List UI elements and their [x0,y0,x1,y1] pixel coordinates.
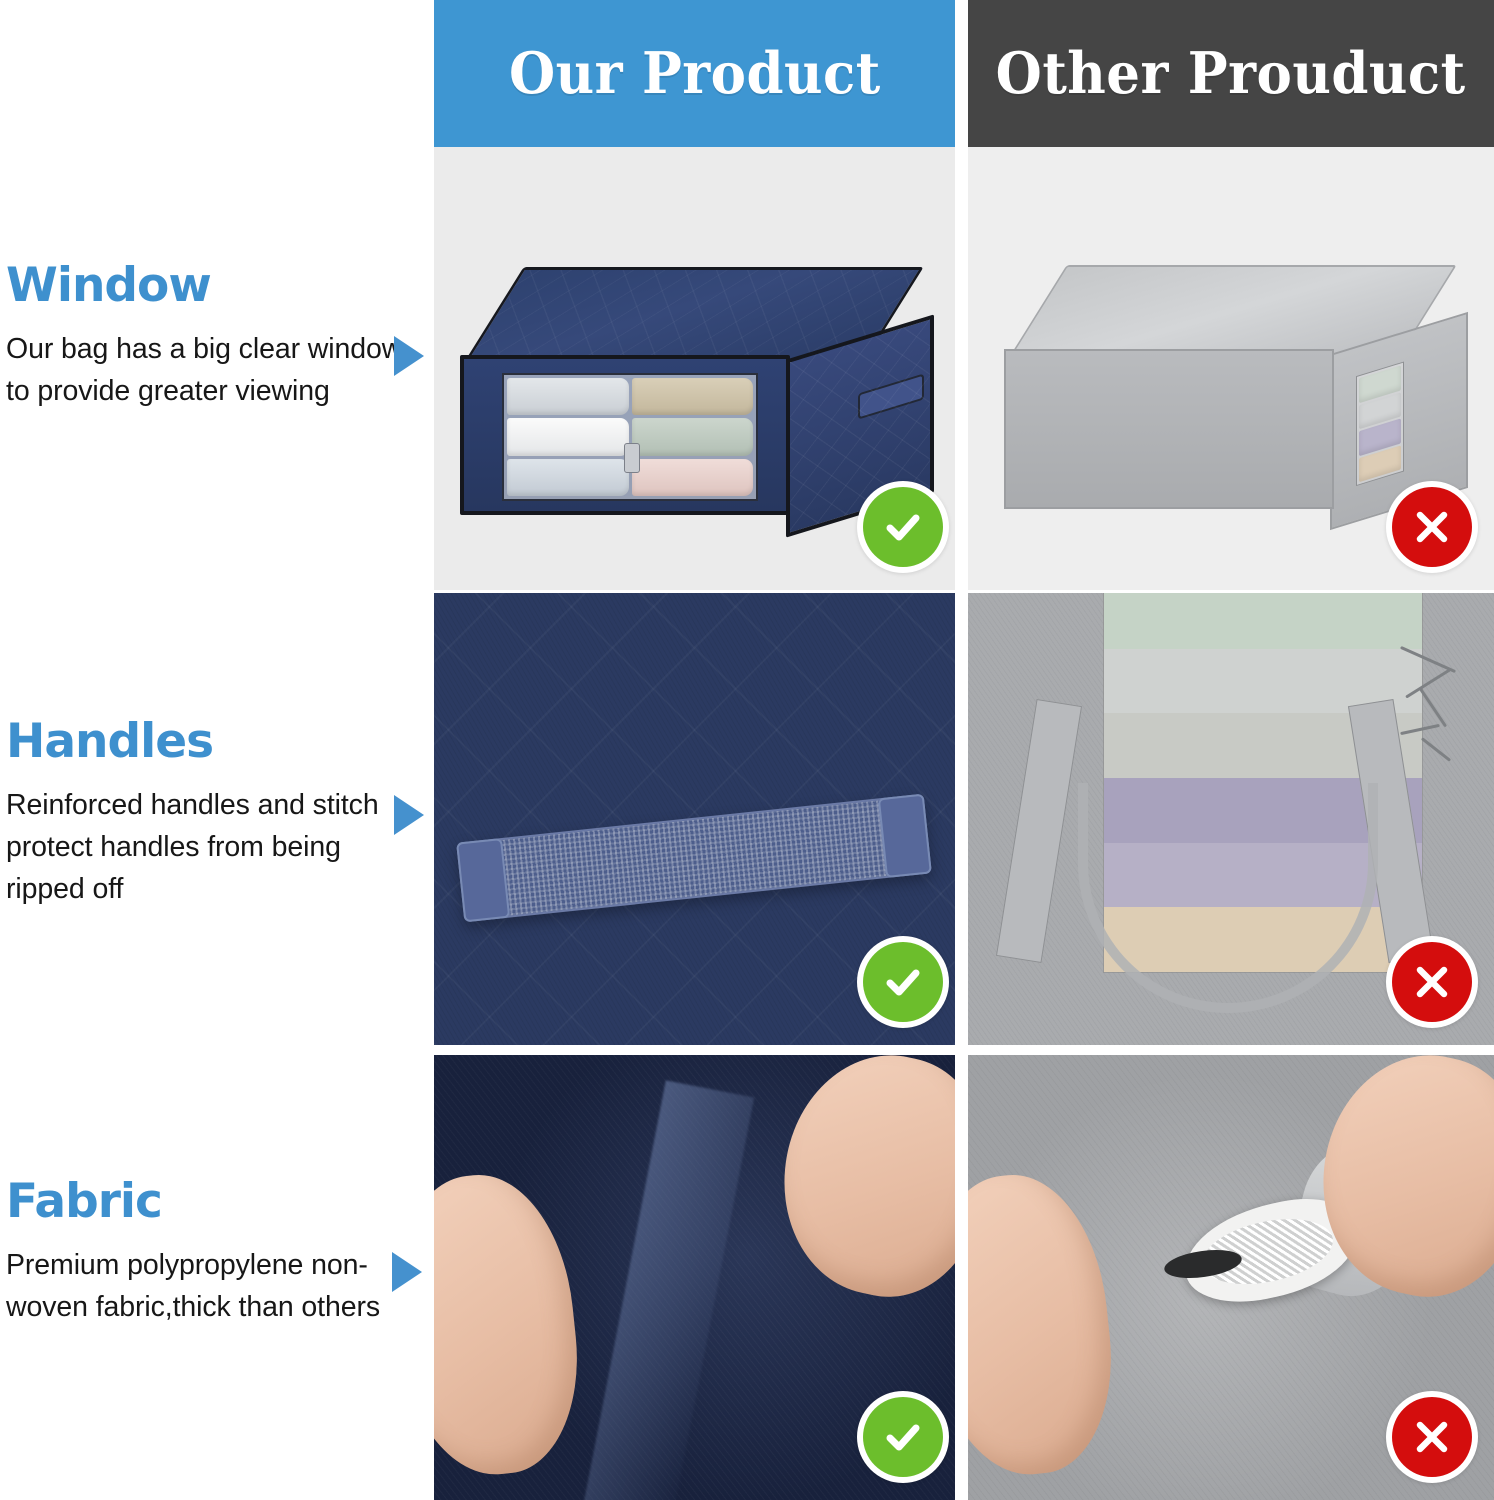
column-header-our-product: Our Product [434,0,955,147]
towel [507,418,629,455]
feature-title-fabric: Fabric [6,1178,426,1225]
strap-anchor-left [456,838,510,922]
product-comparison-infographic: Window Our bag has a big clear window to… [0,0,1494,1500]
feature-body-window: Our bag has a big clear window to provid… [6,329,414,413]
clear-window [502,373,758,501]
feature-title-window: Window [6,262,426,309]
feature-block-window: Window Our bag has a big clear window to… [6,262,426,413]
cross-icon-other-fabric [1386,1391,1478,1483]
towel [632,459,754,496]
zipper-pull-icon [624,443,640,473]
towel [632,378,754,415]
arrow-right-icon-handles [394,795,424,835]
arrow-right-icon-fabric [392,1252,422,1292]
cross-icon-other-handles [1386,936,1478,1028]
towel [507,378,629,415]
arrow-right-icon-window [394,336,424,376]
strap-anchor-right [878,794,932,878]
small-side-window [1356,361,1404,486]
feature-description-column: Window Our bag has a big clear window to… [0,0,434,1500]
feature-title-handles: Handles [6,718,426,765]
column-header-other-product: Other Prouduct [968,0,1494,147]
check-icon-our-fabric [857,1391,949,1483]
column-header-other-product-label: Other Prouduct [996,40,1466,107]
bag-side-handle [858,373,924,419]
bag-front-panel [1004,349,1334,509]
gray-storage-bag-illustration [998,265,1468,515]
check-icon-our-handles [857,936,949,1028]
column-header-our-product-label: Our Product [509,40,881,107]
towel-stack-right [632,378,754,496]
bag-front-panel [460,355,790,515]
towel [632,418,754,455]
towel-stack-left [507,378,629,496]
towel [1104,593,1422,649]
feature-block-fabric: Fabric Premium polypropylene non-woven f… [6,1178,426,1329]
feature-body-fabric: Premium polypropylene non-woven fabric,t… [6,1245,414,1329]
navy-storage-bag-illustration [454,267,934,522]
feature-body-handles: Reinforced handles and stitch protect ha… [6,785,414,911]
towel [507,459,629,496]
cross-icon-other-window [1386,481,1478,573]
feature-block-handles: Handles Reinforced handles and stitch pr… [6,718,426,911]
check-icon-our-window [857,481,949,573]
frayed-stitching-icon [1398,648,1478,768]
